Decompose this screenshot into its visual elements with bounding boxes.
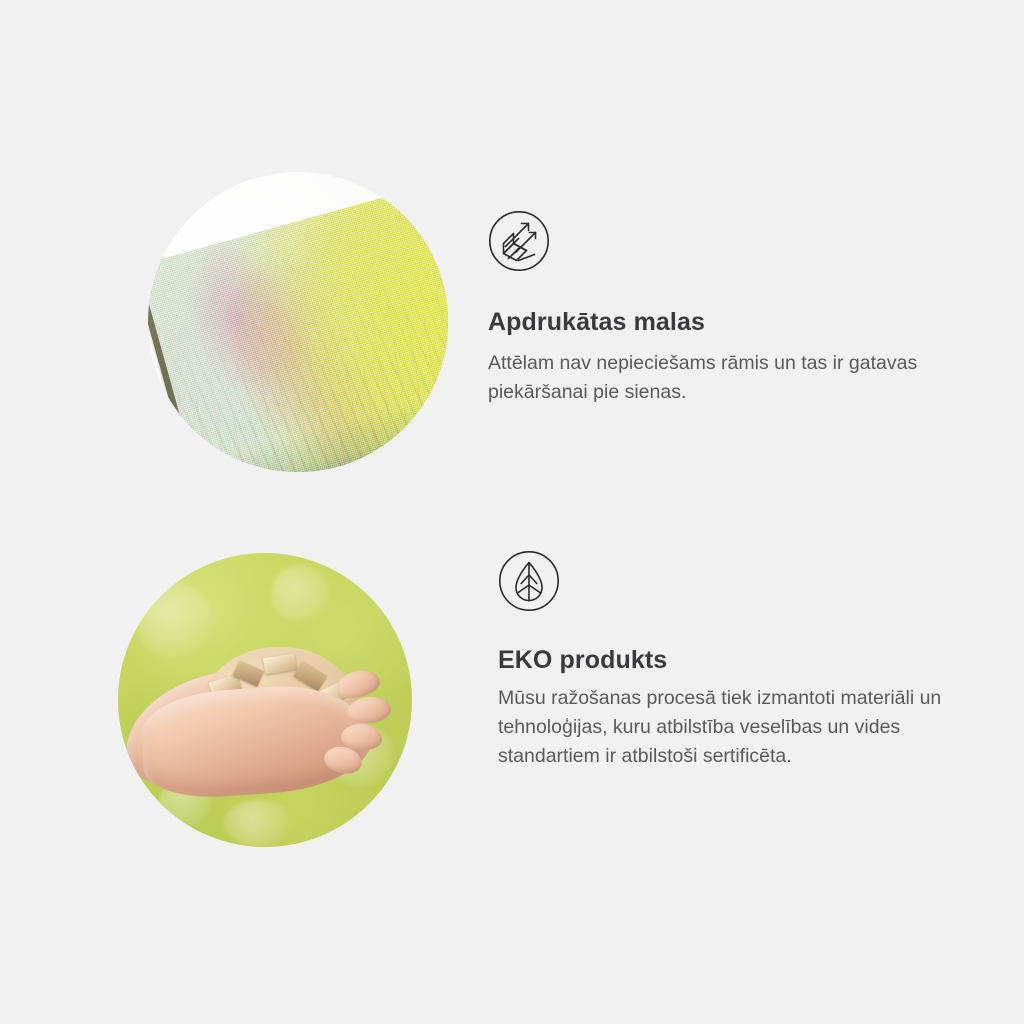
wood-chip [263,654,297,674]
leaf-icon [498,550,560,612]
feature-description: Mūsu ražošanas procesā tiek izmantoti ma… [498,684,966,771]
feature-copy-printed-edges: Apdrukātas malas Attēlam nav nepieciešam… [488,210,958,407]
feature-copy-eco: EKO produkts Mūsu ražošanas procesā tiek… [498,550,978,771]
canvas-corner-photo [148,172,448,472]
feature-block-eco: EKO produkts Mūsu ražošanas procesā tiek… [0,530,1024,870]
feature-description: Attēlam nav nepieciešams rāmis un tas ir… [488,349,940,407]
canvas-printed-face [148,173,448,472]
bokeh-light [224,800,295,847]
hands-with-wood-chips-photo [118,553,412,847]
feature-title: Apdrukātas malas [488,308,958,337]
wrapped-canvas-edges-icon [488,210,550,272]
feature-block-printed-edges: Apdrukātas malas Attēlam nav nepieciešam… [0,150,1024,490]
canvas-photo-scene [148,172,448,472]
bokeh-light [271,565,330,624]
feature-title: EKO produkts [498,646,978,675]
feature-list-page: Apdrukātas malas Attēlam nav nepieciešam… [0,0,1024,1024]
eco-photo-scene [118,553,412,847]
bokeh-light [136,582,212,658]
